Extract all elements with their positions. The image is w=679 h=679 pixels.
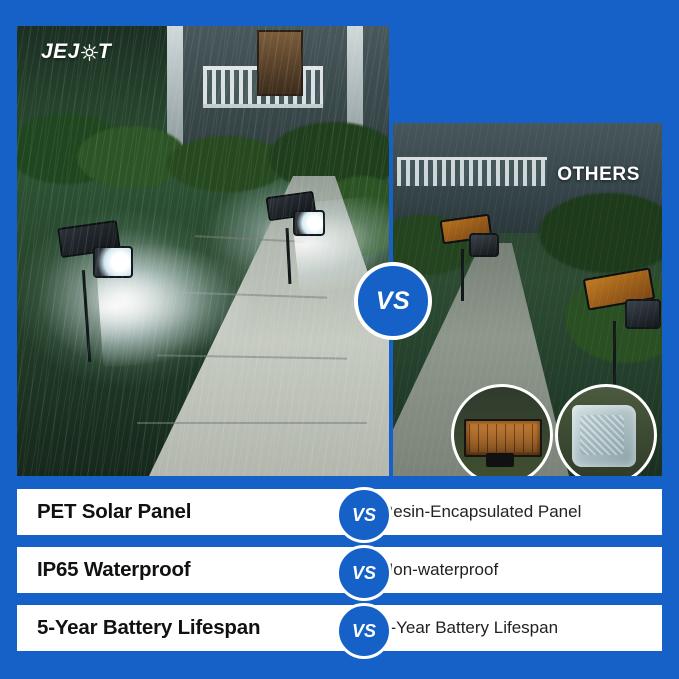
lamp-head bbox=[625, 299, 661, 329]
front-door bbox=[257, 30, 303, 96]
vs-badge-row: VS bbox=[336, 545, 392, 601]
comparison-row: 5-Year Battery Lifespan 1-Year Battery L… bbox=[17, 605, 662, 651]
hero-left-scene bbox=[17, 26, 389, 476]
ground-stake bbox=[286, 228, 292, 284]
competitor-spotlight-front bbox=[585, 273, 662, 393]
lamp-head bbox=[469, 233, 499, 257]
hero-comparison-image: OTHERS bbox=[17, 26, 662, 476]
shrub bbox=[167, 136, 287, 192]
jejot-spotlight-back bbox=[267, 194, 337, 284]
others-label: OTHERS bbox=[557, 164, 640, 186]
path-seam bbox=[137, 422, 367, 424]
feature-ours: IP65 Waterproof bbox=[17, 547, 347, 593]
lamp-head bbox=[93, 246, 133, 278]
feature-theirs: Resin-Encapsulated Panel bbox=[347, 489, 662, 535]
ground-stake bbox=[82, 270, 91, 362]
brand-logo: JEJ T bbox=[41, 40, 111, 64]
feature-ours: 5-Year Battery Lifespan bbox=[17, 605, 347, 651]
vs-badge-row: VS bbox=[336, 603, 392, 659]
panel-mount bbox=[486, 453, 514, 467]
ground-stake bbox=[613, 321, 616, 387]
feature-theirs: 1-Year Battery Lifespan bbox=[347, 605, 662, 651]
jejot-spotlight-front bbox=[59, 224, 145, 364]
competitor-spotlight-back bbox=[441, 217, 511, 307]
porch-railing-right bbox=[397, 157, 547, 186]
comparison-row: PET Solar Panel Resin-Encapsulated Panel… bbox=[17, 489, 662, 535]
hero-top-spacer bbox=[389, 26, 662, 123]
corroded-panel bbox=[464, 419, 542, 457]
feature-ours: PET Solar Panel bbox=[17, 489, 347, 535]
water-ingress bbox=[572, 405, 636, 467]
inset-water-damage-closeup bbox=[555, 384, 657, 476]
brand-name-part2: T bbox=[98, 40, 111, 64]
vs-badge-hero: VS bbox=[354, 262, 432, 340]
lamp-head bbox=[293, 210, 325, 236]
ground-stake bbox=[461, 249, 464, 301]
comparison-table: PET Solar Panel Resin-Encapsulated Panel… bbox=[17, 489, 662, 663]
inset-resin-panel-closeup bbox=[451, 384, 553, 476]
sun-icon bbox=[81, 44, 98, 61]
product-comparison-infographic: ROBUST & DURABLE CONSTRUCTION bbox=[0, 0, 679, 679]
vs-badge-row: VS bbox=[336, 487, 392, 543]
feature-theirs: Non-waterproof bbox=[347, 547, 662, 593]
comparison-row: IP65 Waterproof Non-waterproof VS bbox=[17, 547, 662, 593]
wall-column-left bbox=[167, 26, 183, 146]
brand-name-part1: JEJ bbox=[41, 40, 80, 64]
